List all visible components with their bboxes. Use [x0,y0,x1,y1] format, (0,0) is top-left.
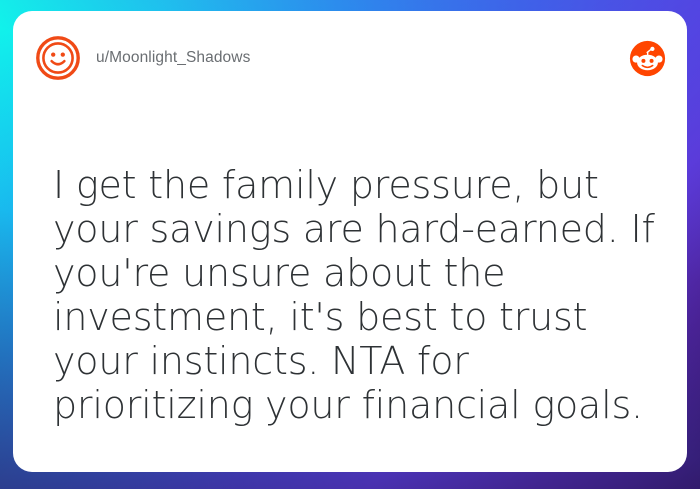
username-label: u/Moonlight_Shadows [96,49,250,67]
smiley-face-avatar-icon[interactable] [36,36,80,80]
screenshot-root: u/Moonlight_Shadows I [0,0,700,489]
post-body-text: I get the family pressure, but your savi… [53,163,667,427]
reddit-snoo-logo-icon[interactable] [629,40,666,77]
reddit-post-card: u/Moonlight_Shadows I [13,11,687,472]
post-header: u/Moonlight_Shadows [13,11,687,105]
